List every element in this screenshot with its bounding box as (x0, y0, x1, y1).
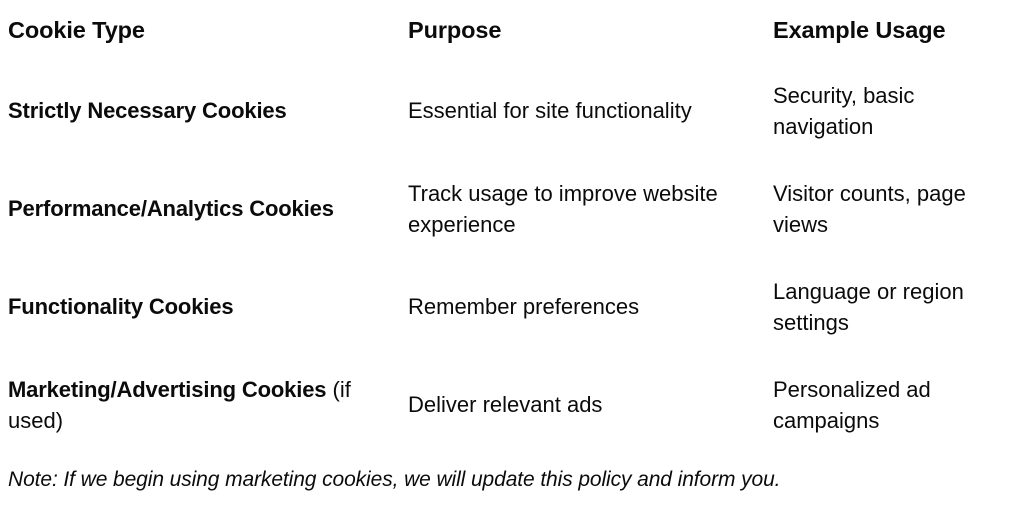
column-header-cookie-type: Cookie Type (8, 0, 408, 62)
cell-cookie-type: Functionality Cookies (8, 258, 408, 356)
cell-cookie-type: Strictly Necessary Cookies (8, 62, 408, 160)
table-body: Strictly Necessary Cookies Essential for… (8, 62, 1024, 454)
cookie-policy-table-page: Cookie Type Purpose Example Usage Strict… (0, 0, 1024, 525)
cookie-type-name: Marketing/Advertising Cookies (8, 377, 326, 402)
cell-example-usage: Security, basic navigation (773, 62, 1024, 160)
cell-example-usage: Language or region settings (773, 258, 1024, 356)
cell-cookie-type: Marketing/Advertising Cookies (if used) (8, 356, 408, 454)
cell-purpose: Deliver relevant ads (408, 356, 773, 454)
cell-purpose: Essential for site functionality (408, 62, 773, 160)
cookie-type-name: Functionality Cookies (8, 294, 233, 319)
table-row: Strictly Necessary Cookies Essential for… (8, 62, 1024, 160)
column-header-example-usage: Example Usage (773, 0, 1024, 62)
table-header: Cookie Type Purpose Example Usage (8, 0, 1024, 62)
cookie-type-name: Strictly Necessary Cookies (8, 98, 287, 123)
table-row: Marketing/Advertising Cookies (if used) … (8, 356, 1024, 454)
cell-example-usage: Visitor counts, page views (773, 160, 1024, 258)
table-header-row: Cookie Type Purpose Example Usage (8, 0, 1024, 62)
column-header-purpose: Purpose (408, 0, 773, 62)
cell-purpose: Remember preferences (408, 258, 773, 356)
cookie-types-table: Cookie Type Purpose Example Usage Strict… (8, 0, 1024, 454)
table-footnote: Note: If we begin using marketing cookie… (8, 466, 780, 493)
cookie-type-name: Performance/Analytics Cookies (8, 196, 334, 221)
cell-purpose: Track usage to improve website experienc… (408, 160, 773, 258)
cell-cookie-type: Performance/Analytics Cookies (8, 160, 408, 258)
table-row: Performance/Analytics Cookies Track usag… (8, 160, 1024, 258)
cell-example-usage: Personalized ad campaigns (773, 356, 1024, 454)
table-row: Functionality Cookies Remember preferenc… (8, 258, 1024, 356)
